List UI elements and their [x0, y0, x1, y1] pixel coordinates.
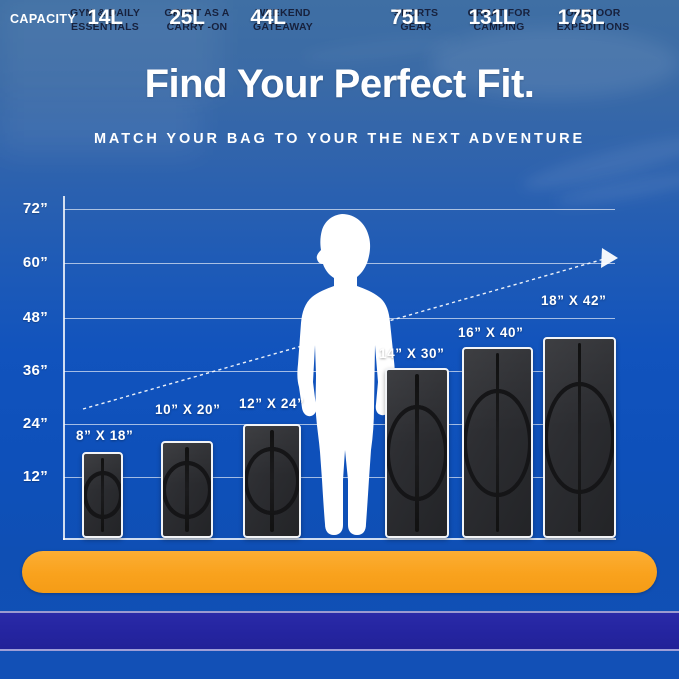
- capacity-band: [0, 611, 679, 651]
- use-case-band: [22, 551, 657, 593]
- bag-6[interactable]: [543, 337, 616, 538]
- infographic-canvas: Find Your Perfect Fit. MATCH YOUR BAG TO…: [0, 0, 679, 679]
- bag-zipper: [578, 343, 582, 532]
- dimension-label-1: 8” X 18”: [76, 428, 133, 443]
- dimension-label-4: 14” X 30”: [379, 346, 444, 361]
- bag-2[interactable]: [161, 441, 213, 538]
- dimension-label-2: 10” X 20”: [155, 402, 220, 417]
- bag-zipper: [101, 458, 105, 532]
- bag-3[interactable]: [243, 424, 301, 538]
- bag-zipper: [496, 353, 500, 532]
- bag-4[interactable]: [385, 368, 449, 538]
- dimension-label-6: 18” X 42”: [541, 293, 606, 308]
- bag-zipper: [270, 430, 274, 532]
- bag-zipper: [185, 447, 189, 532]
- bag-5[interactable]: [462, 347, 533, 538]
- capacity-value-5: 131L: [453, 6, 531, 30]
- bag-zipper: [415, 374, 419, 532]
- capacity-value-6: 175L: [542, 6, 620, 30]
- capacity-value-3: 44L: [233, 6, 303, 30]
- dimension-label-5: 16” X 40”: [458, 325, 523, 340]
- capacity-value-4: 75L: [373, 6, 443, 30]
- bag-1[interactable]: [82, 452, 123, 538]
- capacity-label: CAPACITY: [10, 12, 76, 26]
- dimension-label-3: 12” X 24”: [239, 396, 304, 411]
- capacity-value-2: 25L: [152, 6, 222, 30]
- capacity-value-1: 14L: [70, 6, 140, 30]
